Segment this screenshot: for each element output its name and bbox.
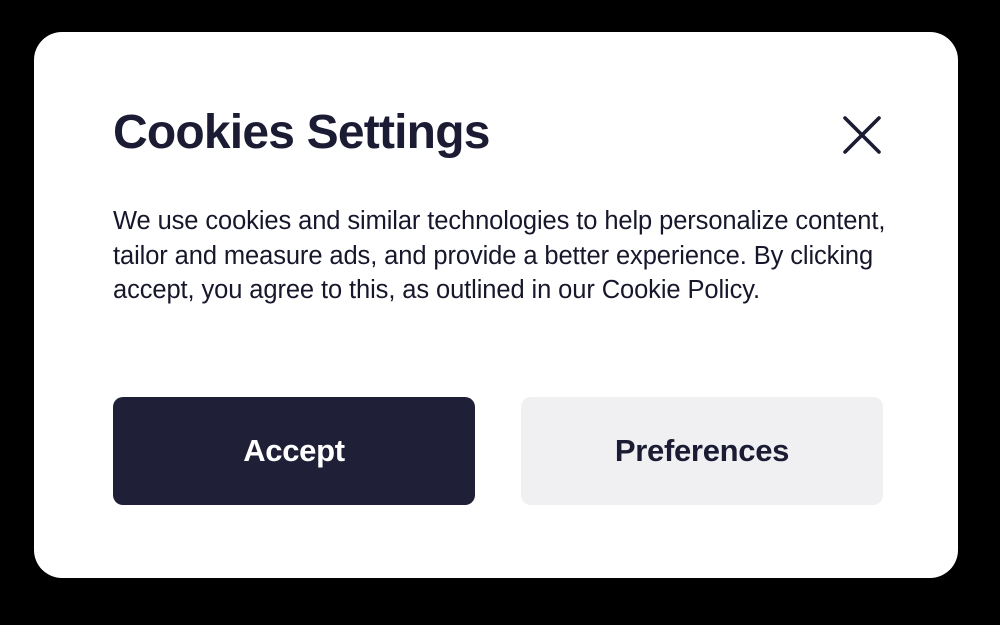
cookies-settings-dialog: Cookies Settings We use cookies and simi… [34, 32, 958, 578]
page-title: Cookies Settings [113, 104, 490, 162]
screen-backdrop: Cookies Settings We use cookies and simi… [0, 0, 1000, 625]
dialog-header: Cookies Settings [113, 104, 885, 196]
close-x-icon [842, 115, 882, 155]
accept-button[interactable]: Accept [113, 397, 475, 505]
preferences-button[interactable]: Preferences [521, 397, 883, 505]
dialog-actions: Accept Preferences [113, 397, 883, 505]
dialog-description: We use cookies and similar technologies … [113, 204, 897, 308]
close-button[interactable] [839, 112, 885, 158]
